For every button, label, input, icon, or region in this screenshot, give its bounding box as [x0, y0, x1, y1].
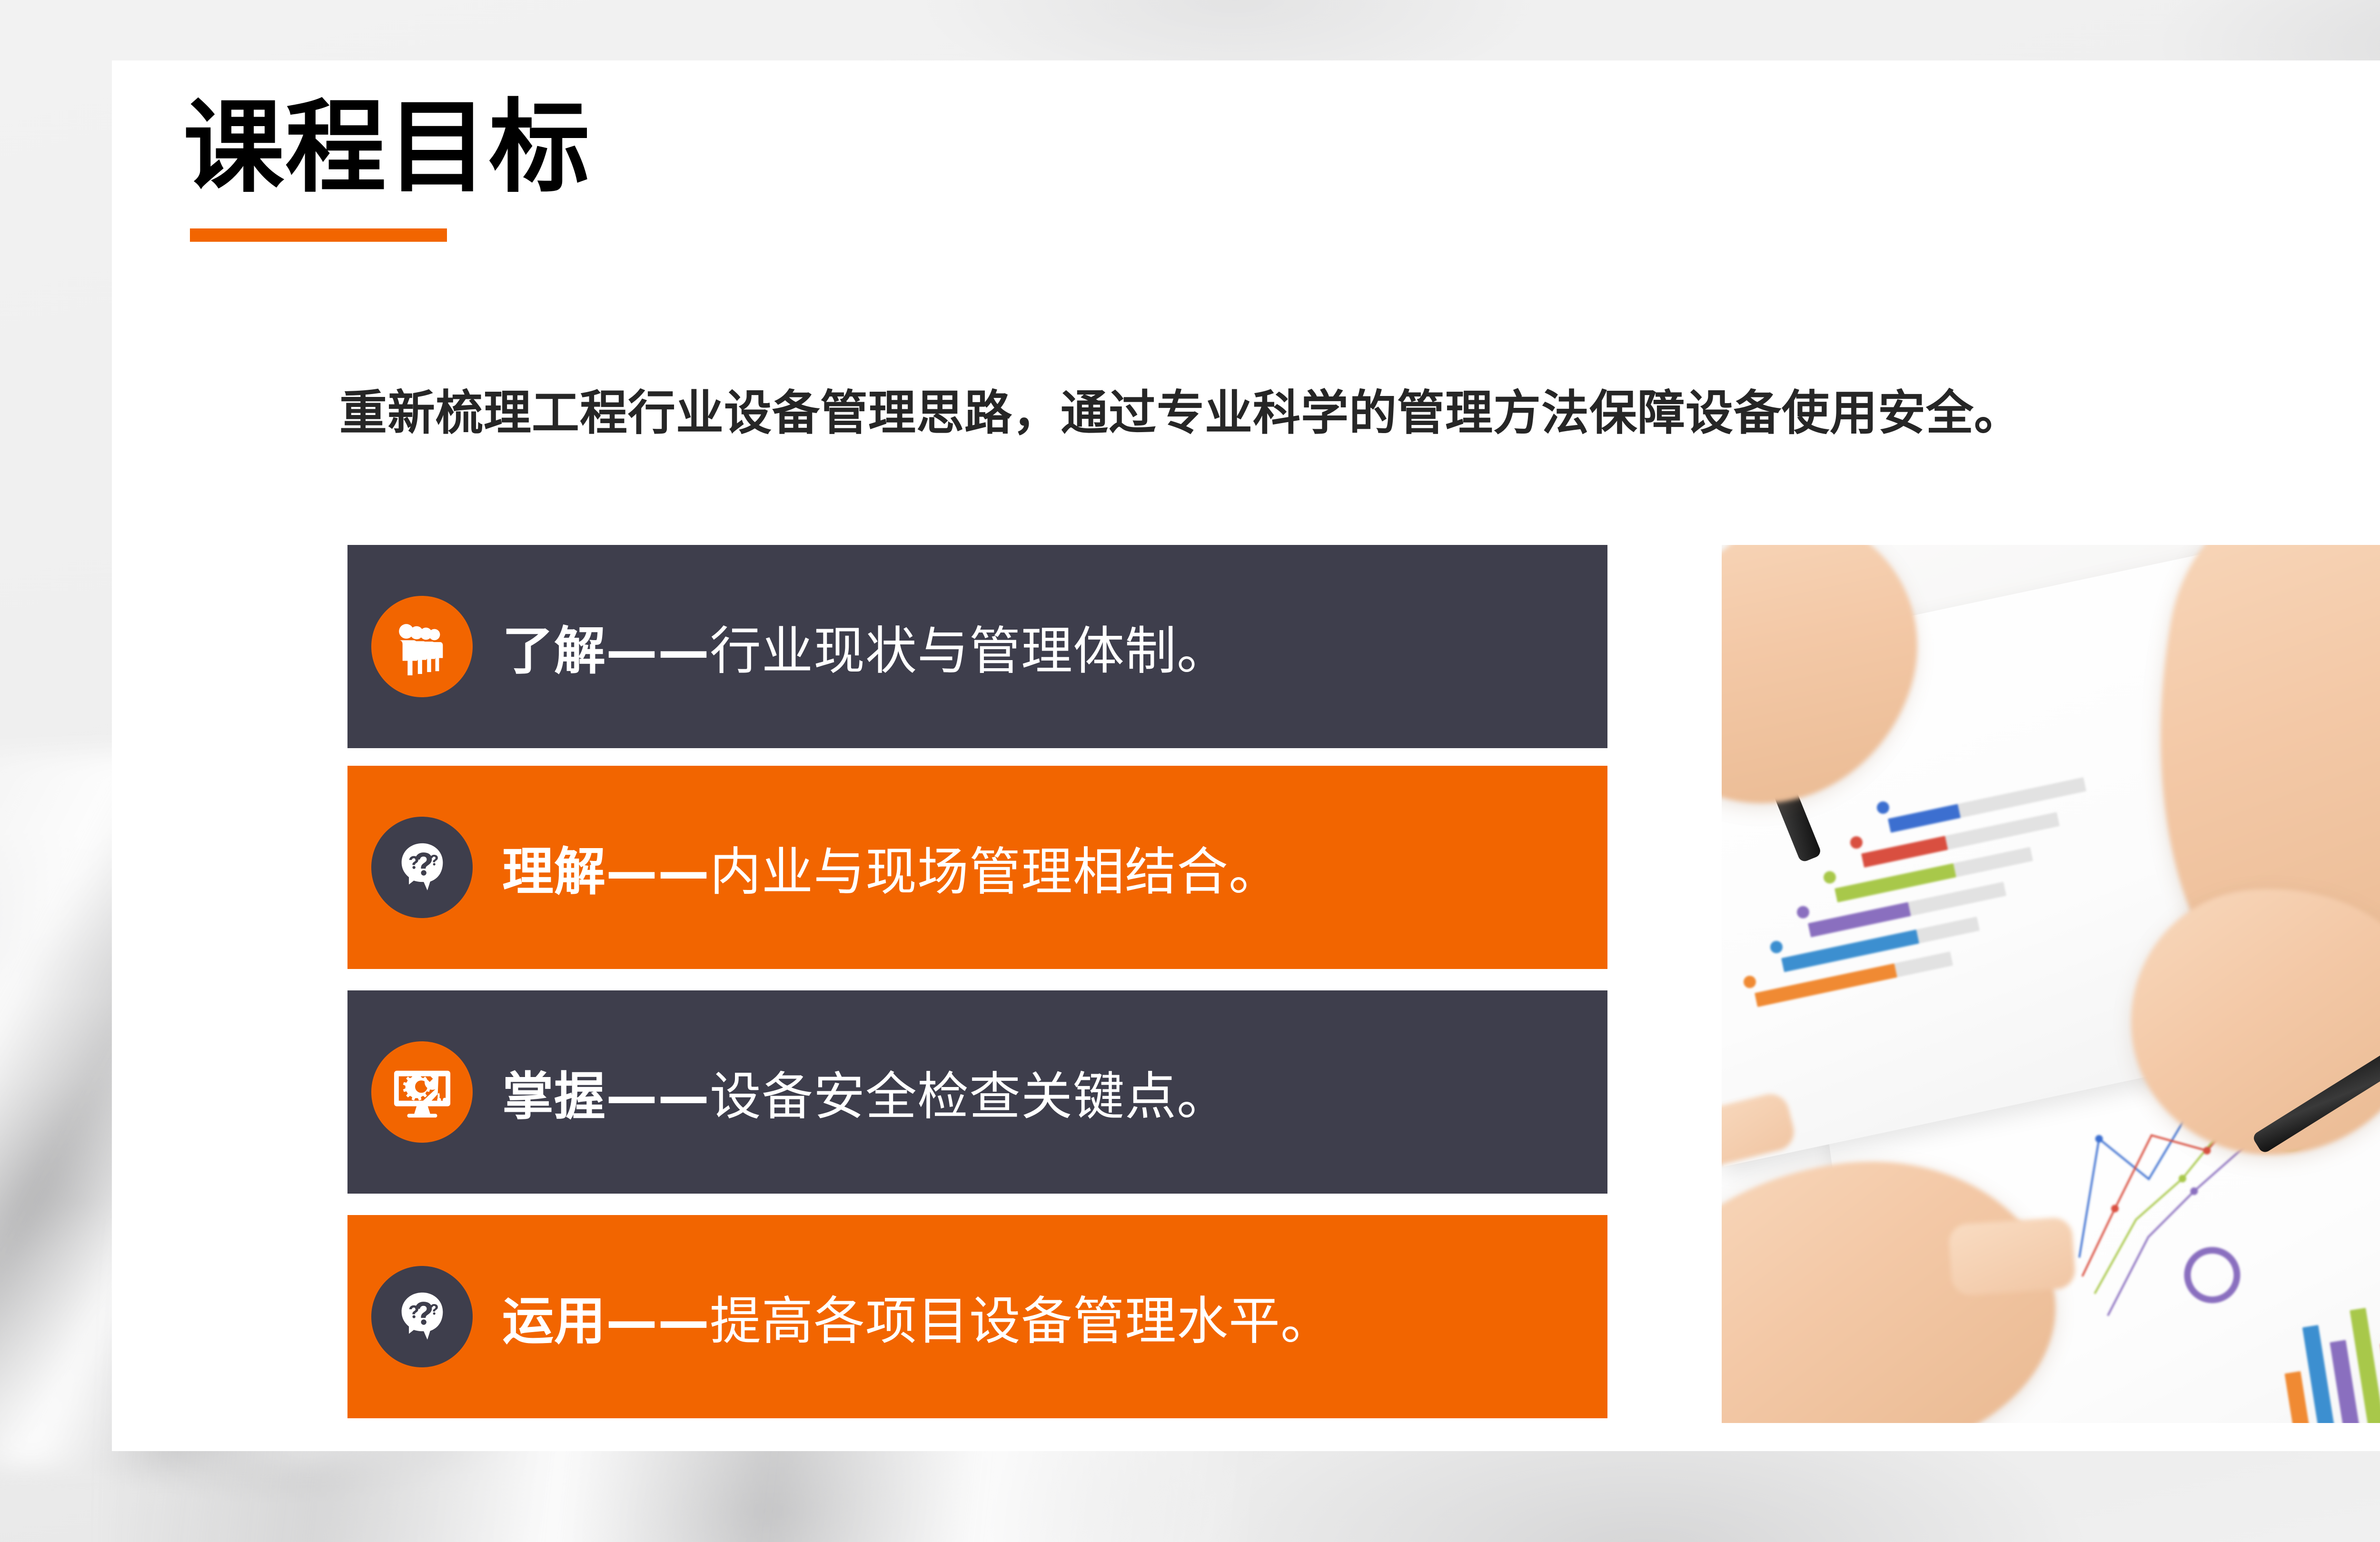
- objective-row[interactable]: 理解——内业与现场管理相结合。: [347, 766, 1607, 969]
- head-with-question-marks-icon: [371, 817, 473, 918]
- objective-keyword: 了解: [502, 622, 606, 681]
- objective-keyword: 理解: [502, 842, 606, 902]
- objective-description: 行业现状与管理体制。: [710, 622, 1229, 681]
- objective-row[interactable]: 掌握——设备安全检查关键点。: [347, 990, 1607, 1194]
- objective-text: 理解——内业与现场管理相结合。: [502, 830, 1607, 905]
- objective-row[interactable]: 运用——提高各项目设备管理水平。: [347, 1215, 1607, 1418]
- title-underline-bar: [190, 228, 447, 242]
- objective-dash: ——: [606, 1292, 710, 1351]
- monitor-gear-wrench-icon: [371, 1041, 473, 1143]
- objective-description: 提高各项目设备管理水平。: [710, 1292, 1332, 1351]
- objective-description: 设备安全检查关键点。: [710, 1067, 1229, 1127]
- page-title: 课程目标: [183, 95, 591, 201]
- photo-finger: [1948, 1216, 2076, 1296]
- objective-dash: ——: [606, 622, 710, 681]
- objective-dash: ——: [606, 1067, 710, 1127]
- content-area: 了解——行业现状与管理体制。: [347, 545, 2321, 1423]
- objective-text: 了解——行业现状与管理体制。: [502, 610, 1607, 684]
- title-block: 课程目标: [183, 95, 591, 242]
- slide-stage: 课程目标 重新梳理工程行业设备管理思路，通过专业科学的管理方法保障设备使用安全。: [0, 0, 2380, 1542]
- objective-keyword: 掌握: [502, 1067, 606, 1127]
- slide-card: 课程目标 重新梳理工程行业设备管理思路，通过专业科学的管理方法保障设备使用安全。: [112, 60, 2380, 1451]
- objective-text: 运用——提高各项目设备管理水平。: [502, 1280, 1607, 1354]
- subtitle-text: 重新梳理工程行业设备管理思路，通过专业科学的管理方法保障设备使用安全。: [339, 374, 2022, 443]
- head-with-question-marks-icon: [371, 1266, 473, 1367]
- objective-text: 掌握——设备安全检查关键点。: [502, 1055, 1607, 1129]
- objective-keyword: 运用: [502, 1292, 606, 1351]
- objective-dash: ——: [606, 842, 710, 902]
- objective-row[interactable]: 了解——行业现状与管理体制。: [347, 545, 1607, 748]
- objective-list: 了解——行业现状与管理体制。: [347, 545, 1607, 1423]
- objective-description: 内业与现场管理相结合。: [710, 842, 1280, 902]
- hands-pointing-at-business-charts-photo: [1722, 545, 2380, 1423]
- group-of-people-icon: [371, 596, 473, 697]
